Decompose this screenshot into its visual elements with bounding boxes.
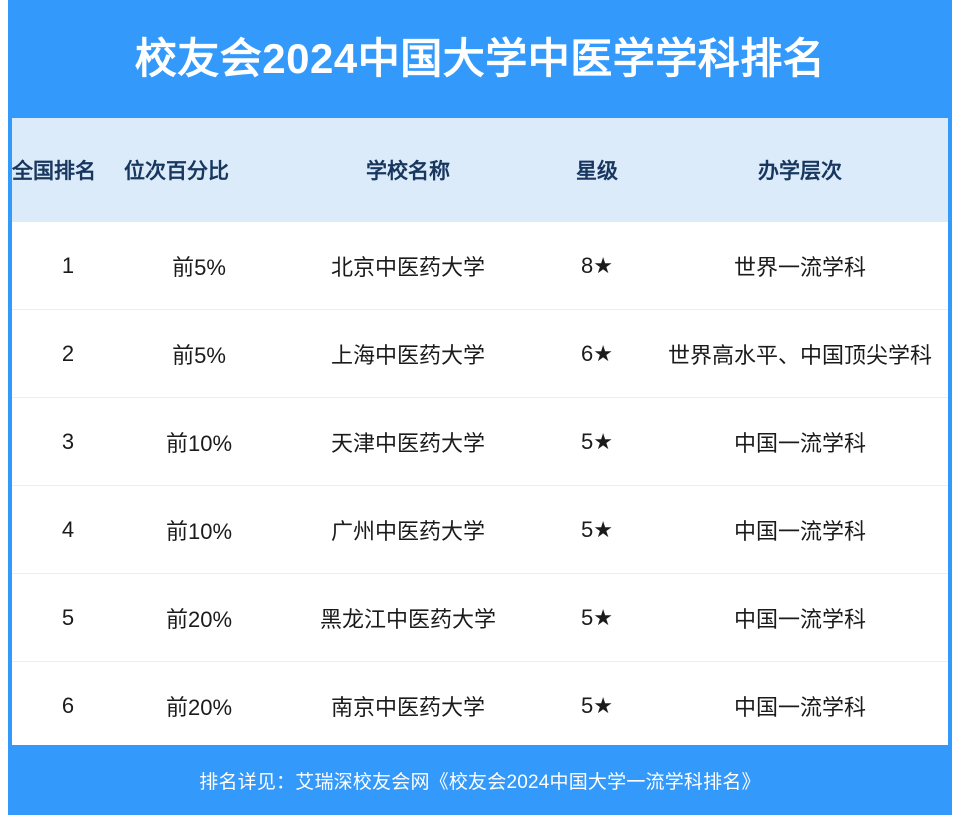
column-header-star: 星级 — [542, 118, 652, 222]
cell-rank: 1 — [12, 222, 124, 310]
table-row: 4 前10% 广州中医药大学 5★ 中国一流学科 — [12, 486, 948, 574]
table-row: 3 前10% 天津中医药大学 5★ 中国一流学科 — [12, 398, 948, 486]
cell-rank: 2 — [12, 310, 124, 398]
ranking-table-container: 全国排名 位次百分比 学校名称 星级 办学层次 1 前5% 北京中医药大学 8★… — [12, 118, 948, 745]
table-row: 2 前5% 上海中医药大学 6★ 世界高水平、中国顶尖学科 — [12, 310, 948, 398]
column-header-school: 学校名称 — [274, 118, 542, 222]
cell-level: 世界一流学科 — [652, 222, 948, 310]
cell-school: 北京中医药大学 — [274, 222, 542, 310]
cell-school: 黑龙江中医药大学 — [274, 574, 542, 662]
ranking-table: 全国排名 位次百分比 学校名称 星级 办学层次 1 前5% 北京中医药大学 8★… — [12, 118, 948, 745]
ranking-card: 校友会2024中国大学中医学学科排名 全国排名 位次百分比 学校名称 星级 办学… — [8, 0, 952, 815]
cell-rank: 6 — [12, 662, 124, 746]
table-row: 1 前5% 北京中医药大学 8★ 世界一流学科 — [12, 222, 948, 310]
cell-school: 南京中医药大学 — [274, 662, 542, 746]
table-row: 6 前20% 南京中医药大学 5★ 中国一流学科 — [12, 662, 948, 746]
cell-percentile: 前20% — [124, 574, 274, 662]
cell-percentile: 前20% — [124, 662, 274, 746]
cell-rank: 4 — [12, 486, 124, 574]
cell-level: 世界高水平、中国顶尖学科 — [652, 310, 948, 398]
page-title: 校友会2024中国大学中医学学科排名 — [135, 38, 825, 80]
column-header-level: 办学层次 — [652, 118, 948, 222]
column-header-rank: 全国排名 — [12, 118, 124, 222]
cell-school: 天津中医药大学 — [274, 398, 542, 486]
table-row: 5 前20% 黑龙江中医药大学 5★ 中国一流学科 — [12, 574, 948, 662]
cell-level: 中国一流学科 — [652, 486, 948, 574]
cell-rank: 3 — [12, 398, 124, 486]
footer-banner: 排名详见：艾瑞深校友会网《校友会2024中国大学一流学科排名》 — [8, 745, 952, 815]
cell-percentile: 前10% — [124, 486, 274, 574]
cell-level: 中国一流学科 — [652, 574, 948, 662]
cell-level: 中国一流学科 — [652, 662, 948, 746]
cell-star: 5★ — [542, 662, 652, 746]
table-body: 1 前5% 北京中医药大学 8★ 世界一流学科 2 前5% 上海中医药大学 6★… — [12, 222, 948, 745]
cell-percentile: 前10% — [124, 398, 274, 486]
cell-level: 中国一流学科 — [652, 398, 948, 486]
table-header: 全国排名 位次百分比 学校名称 星级 办学层次 — [12, 118, 948, 222]
cell-star: 5★ — [542, 574, 652, 662]
title-banner: 校友会2024中国大学中医学学科排名 — [8, 0, 952, 118]
footer-source-note: 排名详见：艾瑞深校友会网《校友会2024中国大学一流学科排名》 — [199, 767, 760, 794]
column-header-percentile: 位次百分比 — [124, 118, 274, 222]
cell-star: 6★ — [542, 310, 652, 398]
cell-school: 广州中医药大学 — [274, 486, 542, 574]
cell-star: 5★ — [542, 486, 652, 574]
cell-star: 5★ — [542, 398, 652, 486]
cell-percentile: 前5% — [124, 222, 274, 310]
cell-percentile: 前5% — [124, 310, 274, 398]
cell-school: 上海中医药大学 — [274, 310, 542, 398]
table-header-row: 全国排名 位次百分比 学校名称 星级 办学层次 — [12, 118, 948, 222]
cell-star: 8★ — [542, 222, 652, 310]
cell-rank: 5 — [12, 574, 124, 662]
